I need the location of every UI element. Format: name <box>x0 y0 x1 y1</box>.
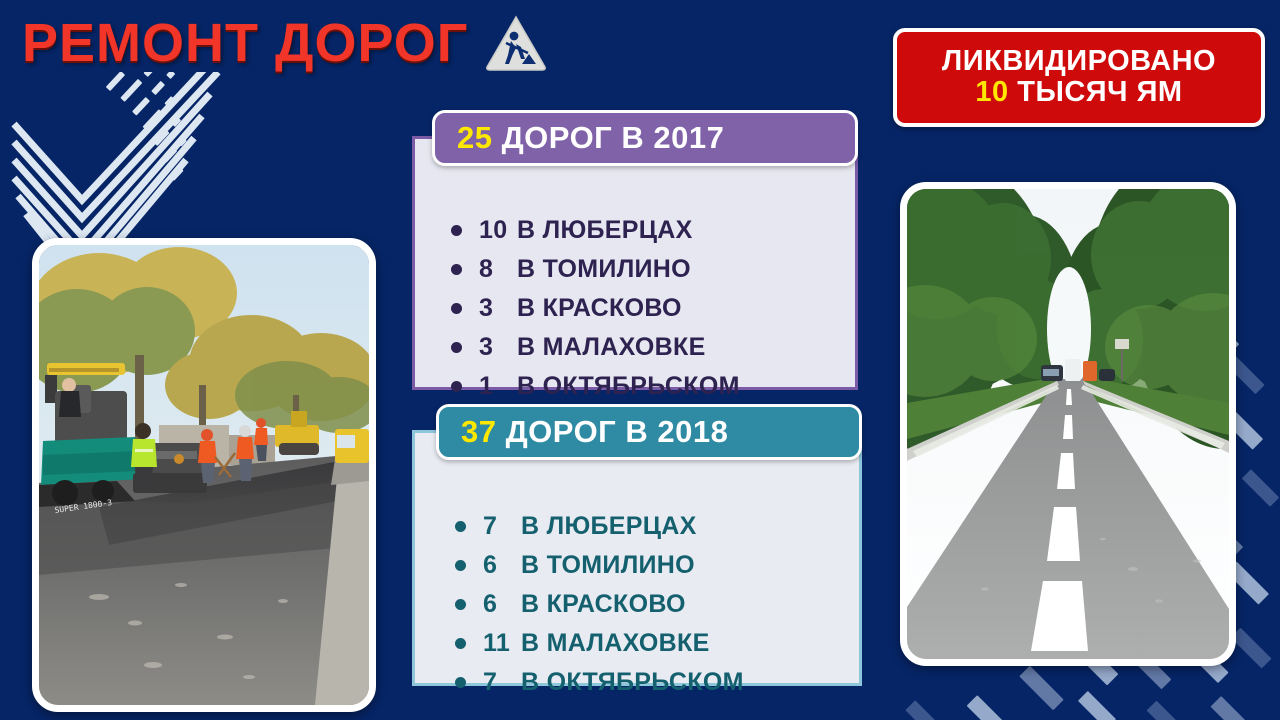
badge-line-2: 10 ТЫСЯЧ ЯМ <box>975 77 1182 109</box>
list-item-count: 11 <box>483 629 521 658</box>
list-item: 11В МАЛАХОВКЕ <box>455 624 899 663</box>
list-item-place: В МАЛАХОВКЕ <box>517 333 706 362</box>
stat-panel-2018-header: 37 ДОРОГ В 2018 <box>436 404 862 460</box>
badge-number: 10 <box>975 76 1008 108</box>
stat-panel-2017: 10В ЛЮБЕРЦАХ 8В ТОМИЛИНО 3В КРАСКОВО 3В … <box>412 110 858 390</box>
bullet-icon <box>455 599 466 610</box>
bullet-icon <box>455 521 466 532</box>
list-item: 3В МАЛАХОВКЕ <box>451 328 891 367</box>
list-item-place: В КРАСКОВО <box>521 590 686 619</box>
stat-panel-2018: 7В ЛЮБЕРЦАХ 6В ТОМИЛИНО 6В КРАСКОВО 11В … <box>412 404 862 686</box>
stat-panel-2017-body: 10В ЛЮБЕРЦАХ 8В ТОМИЛИНО 3В КРАСКОВО 3В … <box>412 136 858 390</box>
list-item-count: 3 <box>479 294 517 323</box>
bullet-icon <box>451 342 462 353</box>
list-item-count: 8 <box>479 255 517 284</box>
list-item: 6В ТОМИЛИНО <box>455 546 899 585</box>
stat-list-2018: 7В ЛЮБЕРЦАХ 6В ТОМИЛИНО 6В КРАСКОВО 11В … <box>415 433 899 702</box>
bullet-icon <box>455 677 466 688</box>
list-item-place: В ОКТЯБРЬСКОМ <box>521 668 744 697</box>
list-item: 3В КРАСКОВО <box>451 289 891 328</box>
page-title: РЕМОНТ ДОРОГ <box>22 16 468 70</box>
stat-panel-2017-header: 25 ДОРОГ В 2017 <box>432 110 858 166</box>
list-item: 7В ОКТЯБРЬСКОМ <box>455 663 899 702</box>
panel-2017-title: ДОРОГ В 2017 <box>492 120 724 155</box>
infographic-canvas: РЕМОНТ ДОРОГ ЛИКВИДИРОВАНО 10 ТЫСЯЧ ЯМ 1… <box>0 0 1280 720</box>
list-item-count: 3 <box>479 333 517 362</box>
badge-line-2-text: ТЫСЯЧ ЯМ <box>1009 76 1183 108</box>
list-item-place: В ТОМИЛИНО <box>517 255 691 284</box>
list-item-count: 6 <box>483 551 521 580</box>
list-item-place: В ЛЮБЕРЦАХ <box>517 216 693 245</box>
list-item: 1В ОКТЯБРЬСКОМ <box>451 367 891 406</box>
list-item: 7В ЛЮБЕРЦАХ <box>455 507 899 546</box>
photo-road-paving: SUPER 1800-3 <box>32 238 376 712</box>
bullet-icon <box>451 225 462 236</box>
list-item-count: 1 <box>479 372 517 401</box>
list-item: 6В КРАСКОВО <box>455 585 899 624</box>
bullet-icon <box>455 560 466 571</box>
stat-panel-2018-body: 7В ЛЮБЕРЦАХ 6В ТОМИЛИНО 6В КРАСКОВО 11В … <box>412 430 862 686</box>
page-title-group: РЕМОНТ ДОРОГ <box>22 14 548 72</box>
list-item-count: 7 <box>483 668 521 697</box>
list-item: 8В ТОМИЛИНО <box>451 250 891 289</box>
list-item-place: В ЛЮБЕРЦАХ <box>521 512 697 541</box>
bullet-icon <box>451 381 462 392</box>
bullet-icon <box>455 638 466 649</box>
list-item-place: В МАЛАХОВКЕ <box>521 629 710 658</box>
list-item: 10В ЛЮБЕРЦАХ <box>451 211 891 250</box>
bullet-icon <box>451 264 462 275</box>
bullet-icon <box>451 303 462 314</box>
status-badge: ЛИКВИДИРОВАНО 10 ТЫСЯЧ ЯМ <box>893 28 1265 127</box>
list-item-place: В ОКТЯБРЬСКОМ <box>517 372 740 401</box>
panel-2017-number: 25 <box>457 120 492 155</box>
list-item-count: 6 <box>483 590 521 619</box>
stat-list-2017: 10В ЛЮБЕРЦАХ 8В ТОМИЛИНО 3В КРАСКОВО 3В … <box>415 139 891 406</box>
list-item-place: В КРАСКОВО <box>517 294 682 323</box>
list-item-count: 10 <box>479 216 517 245</box>
panel-2018-number: 37 <box>461 414 496 449</box>
badge-line-1: ЛИКВИДИРОВАНО <box>942 46 1216 76</box>
photo-finished-road <box>900 182 1236 666</box>
list-item-place: В ТОМИЛИНО <box>521 551 695 580</box>
list-item-count: 7 <box>483 512 521 541</box>
panel-2018-title: ДОРОГ В 2018 <box>496 414 728 449</box>
road-works-sign-icon <box>484 14 548 72</box>
